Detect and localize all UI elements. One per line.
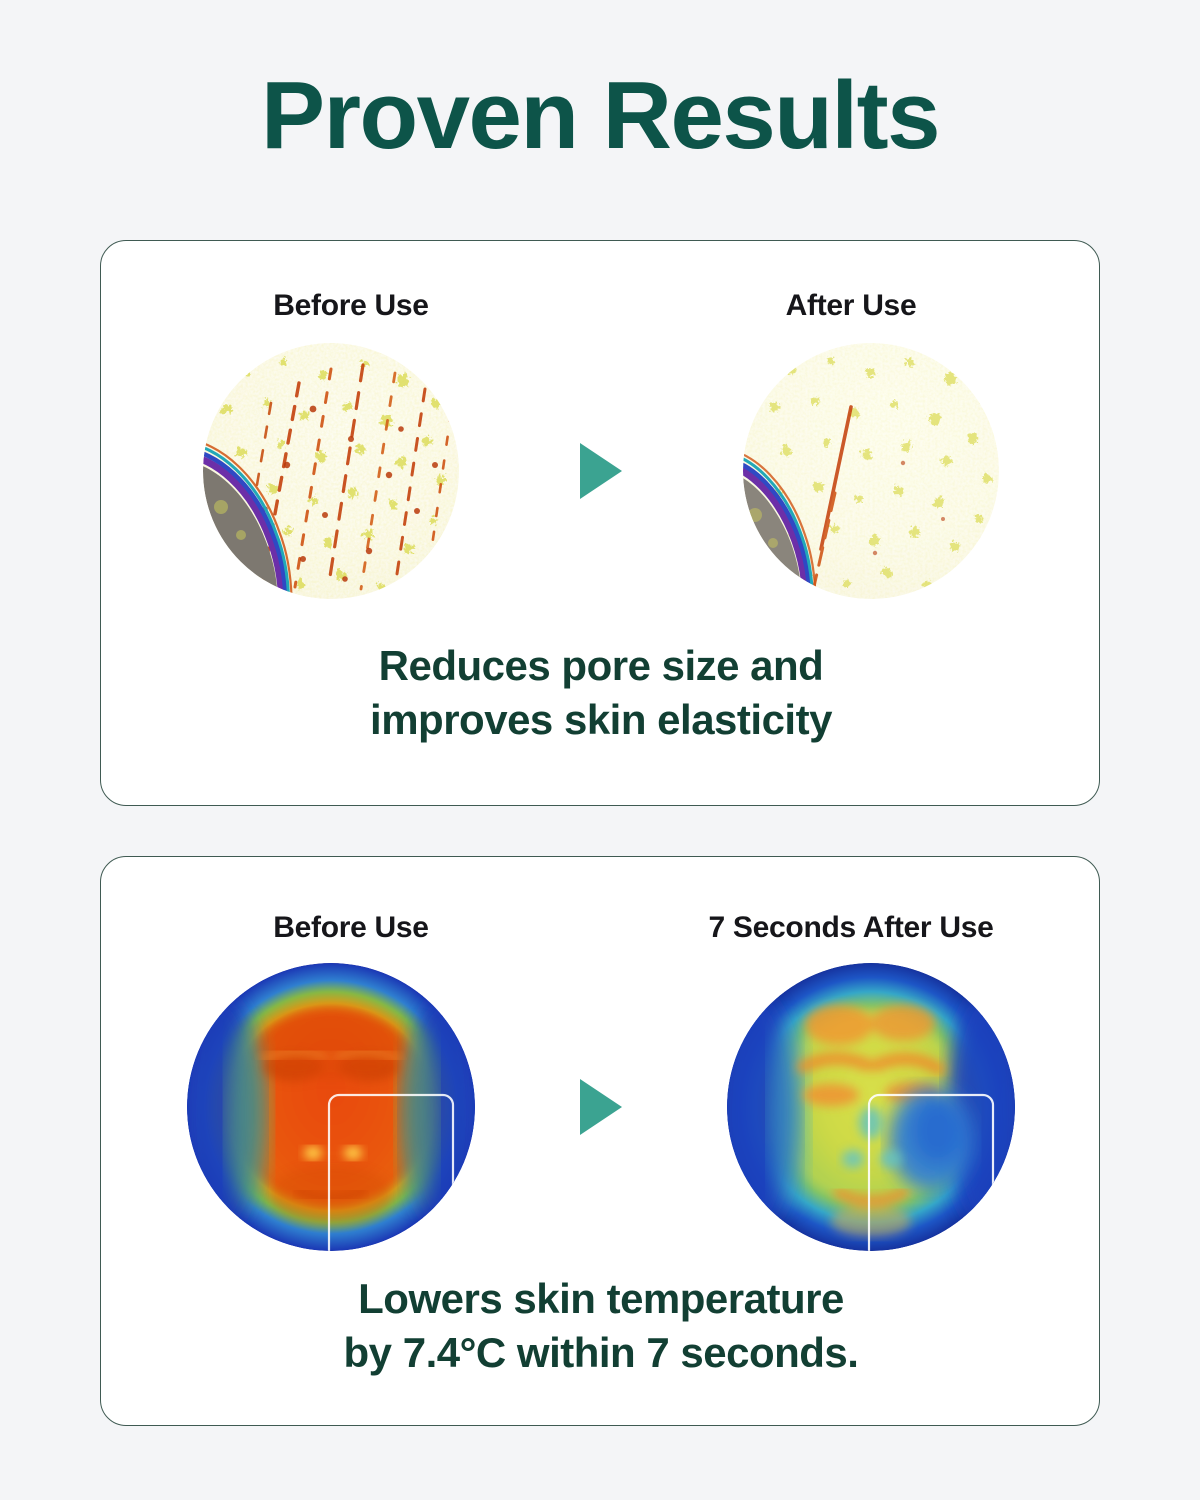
comparison-labels-row: Before Use 7 Seconds After Use <box>101 911 1101 951</box>
page-title: Proven Results <box>0 68 1200 164</box>
after-image-cell <box>641 963 1101 1251</box>
result-card-skin-temperature: Before Use 7 Seconds After Use <box>100 856 1100 1426</box>
comparison-image-row <box>101 336 1101 606</box>
before-image-cell <box>101 963 561 1251</box>
comparison-arrow <box>561 443 641 499</box>
after-image-cell <box>641 343 1101 599</box>
skin-micrograph-before <box>203 343 459 599</box>
seconds-after-use-label: 7 Seconds After Use <box>601 911 1101 951</box>
before-image-cell <box>101 343 561 599</box>
skin-micrograph-after <box>743 343 999 599</box>
result-card-pore-elasticity: Before Use After Use <box>100 240 1100 806</box>
comparison-labels-row: Before Use After Use <box>101 289 1101 329</box>
comparison-image-row <box>101 957 1101 1257</box>
card-caption: Lowers skin temperature by 7.4°C within … <box>101 1272 1101 1380</box>
after-use-label: After Use <box>601 289 1101 329</box>
comparison-arrow <box>561 1079 641 1135</box>
before-use-label: Before Use <box>101 911 601 951</box>
thermal-face-before <box>187 963 475 1251</box>
play-triangle-right-icon <box>580 1079 622 1135</box>
card-caption: Reduces pore size and improves skin elas… <box>101 639 1101 747</box>
play-triangle-right-icon <box>580 443 622 499</box>
before-use-label: Before Use <box>101 289 601 329</box>
thermal-face-after <box>727 963 1015 1251</box>
